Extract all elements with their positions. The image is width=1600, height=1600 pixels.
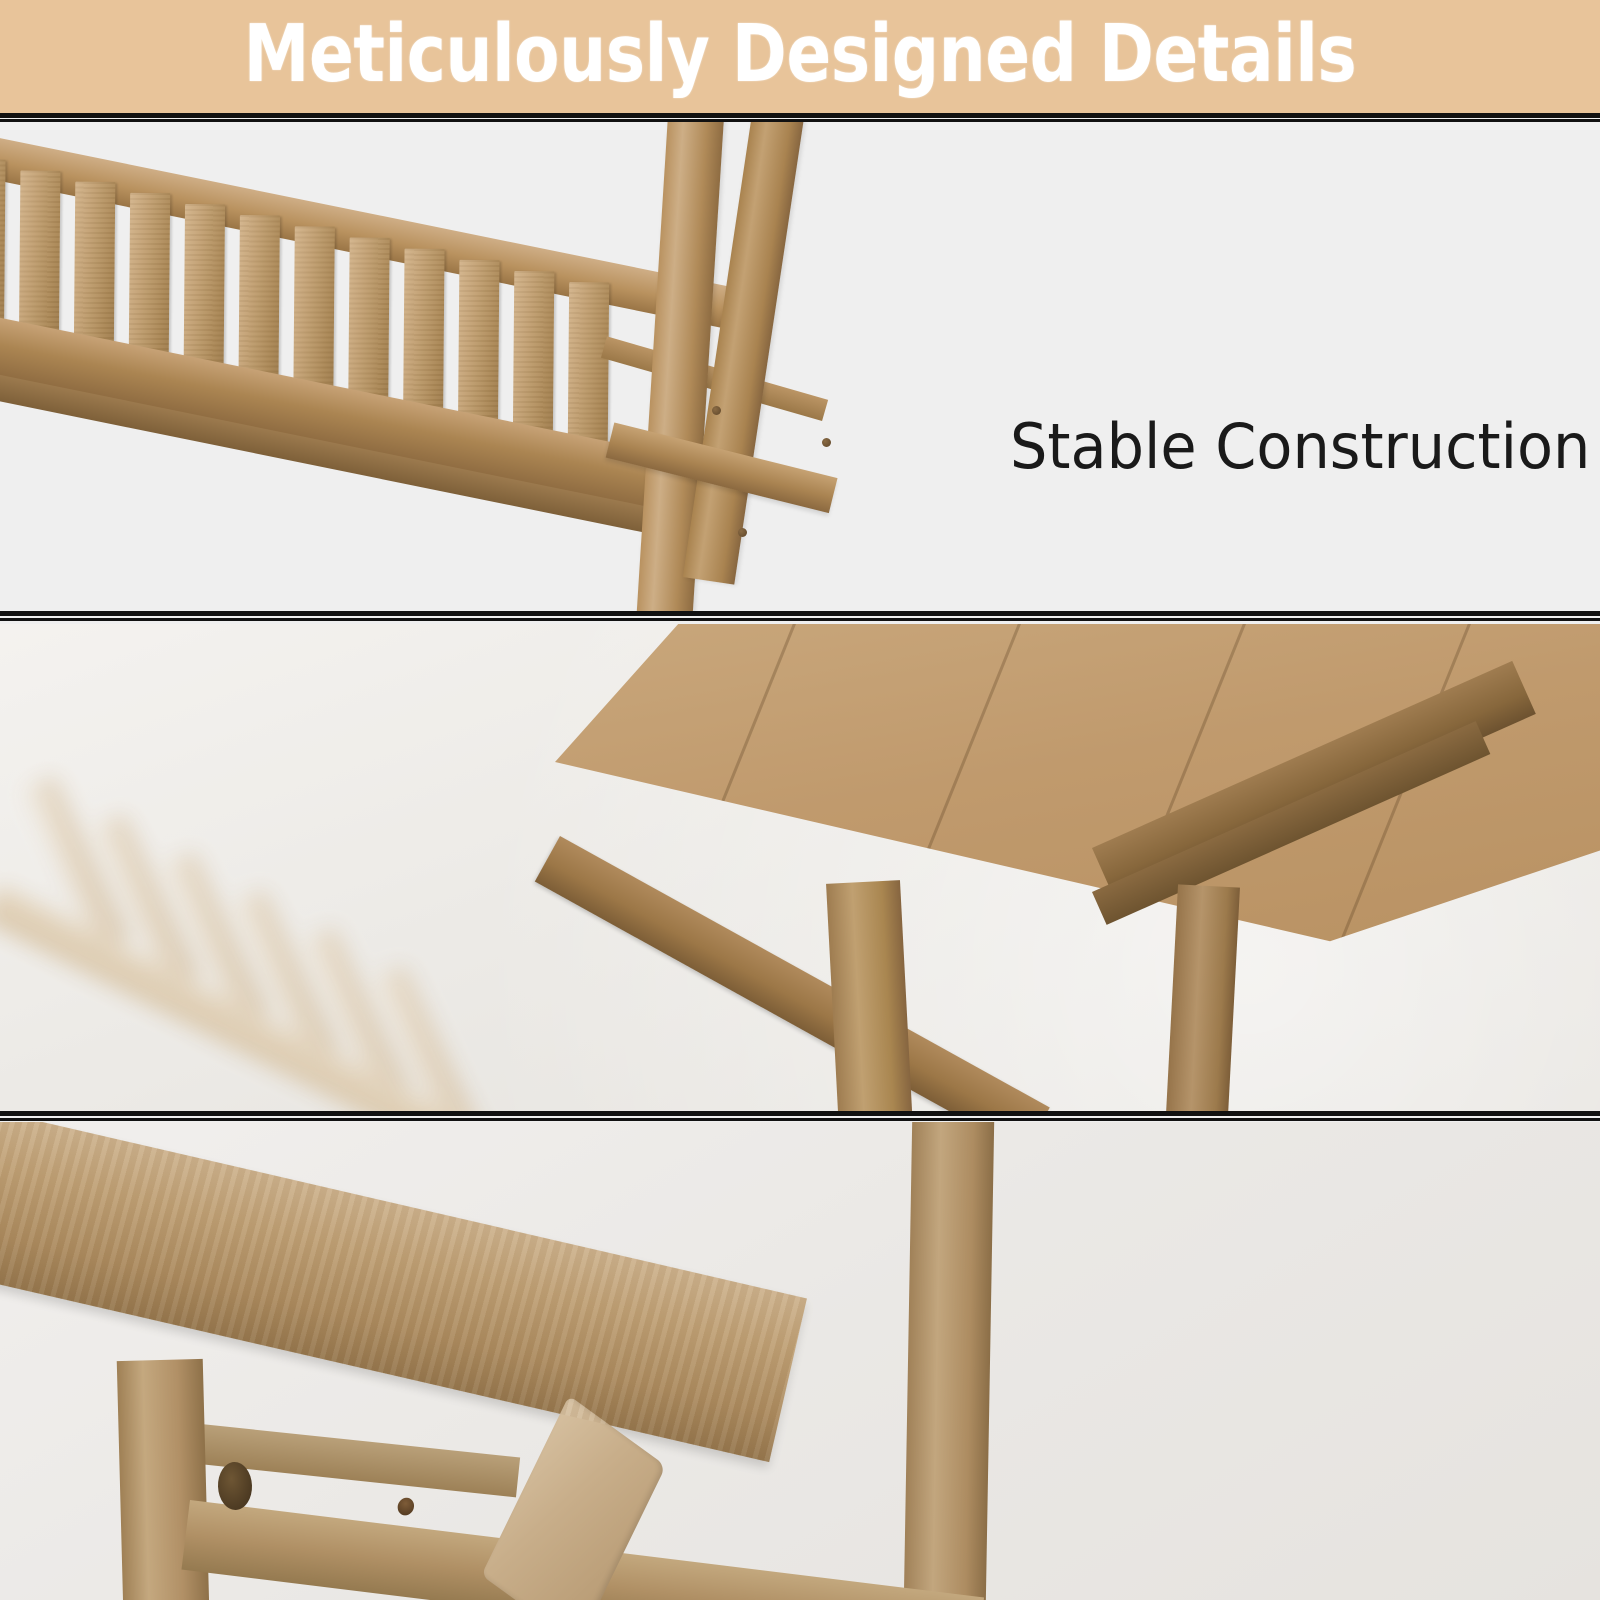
table-leg-left bbox=[826, 880, 913, 1111]
background-vertical-leg bbox=[904, 1122, 995, 1600]
panel-stable-construction: Stable Construction bbox=[0, 122, 1600, 611]
table-leg-right bbox=[1165, 884, 1239, 1111]
panel-divider-1 bbox=[0, 611, 1600, 624]
caption-stable-construction: Stable Construction bbox=[1010, 416, 1590, 478]
header-banner: Meticulously Designed Details bbox=[0, 0, 1600, 113]
screw-head bbox=[822, 438, 831, 447]
page-title: Meticulously Designed Details bbox=[56, 0, 1544, 113]
screw-head bbox=[738, 528, 747, 537]
product-detail-infographic: Meticulously Designed Details bbox=[0, 0, 1600, 1600]
panel-anti-scratch: Anti-Scratch bbox=[0, 1122, 1600, 1600]
screw-head bbox=[712, 406, 721, 415]
panel-thick-tabletop: Thick Tabletop 1.26" bbox=[0, 624, 1600, 1111]
header-divider-thick bbox=[0, 113, 1600, 118]
